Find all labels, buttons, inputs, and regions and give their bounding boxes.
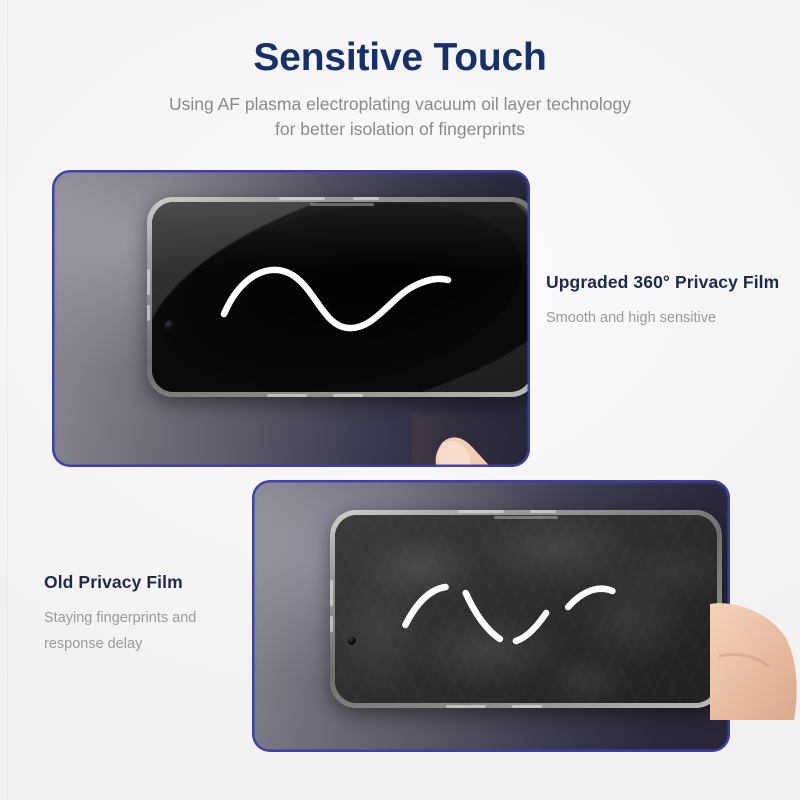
page-title: Sensitive Touch	[0, 36, 800, 80]
phone-screen-upgraded	[152, 202, 530, 392]
page-subtitle: Using AF plasma electroplating vacuum oi…	[0, 92, 800, 142]
subtitle-line-2: for better isolation of fingerprints	[0, 117, 800, 142]
phone-side-button-old-2	[330, 616, 333, 632]
swipe-stroke-broken	[335, 515, 717, 703]
header: Sensitive Touch Using AF plasma electrop…	[0, 0, 800, 142]
callout-old-subtitle-line-1: Staying fingerprints and	[44, 610, 196, 626]
subtitle-line-1: Using AF plasma electroplating vacuum oi…	[169, 94, 631, 114]
phone-top-notch-old-2	[530, 510, 556, 513]
product-feature-image: Sensitive Touch Using AF plasma electrop…	[0, 0, 800, 800]
panel-old-film	[252, 480, 730, 752]
phone-side-button-old	[330, 580, 333, 606]
phone-device-upgraded	[147, 197, 530, 397]
phone-screen-old	[335, 515, 717, 703]
swipe-stroke-continuous	[152, 202, 530, 392]
phone-top-notch-old	[458, 510, 504, 513]
callout-upgraded-title: Upgraded 360° Privacy Film	[546, 272, 779, 293]
phone-top-notch	[279, 197, 325, 200]
phone-bottom-notch-old	[446, 705, 486, 708]
callout-upgraded-film: Upgraded 360° Privacy Film Smooth and hi…	[546, 272, 779, 331]
phone-top-notch-2	[353, 197, 379, 200]
phone-side-button-2	[147, 305, 150, 321]
phone-bottom-notch-2	[333, 394, 363, 397]
phone-bottom-notch-old-2	[512, 705, 542, 708]
phone-bottom-notch	[267, 394, 307, 397]
callout-upgraded-subtitle: Smooth and high sensitive	[546, 305, 779, 331]
phone-device-old	[330, 510, 722, 708]
callout-old-film: Old Privacy Film Staying fingerprints an…	[44, 572, 196, 657]
callout-old-subtitle: Staying fingerprints and response delay	[44, 605, 196, 657]
phone-side-button	[147, 269, 150, 295]
callout-old-subtitle-line-2: response delay	[44, 636, 142, 652]
hand-pointing-upgraded	[412, 413, 530, 467]
panel-upgraded-film	[52, 170, 530, 467]
hand-overflow-old	[710, 596, 800, 756]
callout-old-title: Old Privacy Film	[44, 572, 196, 593]
